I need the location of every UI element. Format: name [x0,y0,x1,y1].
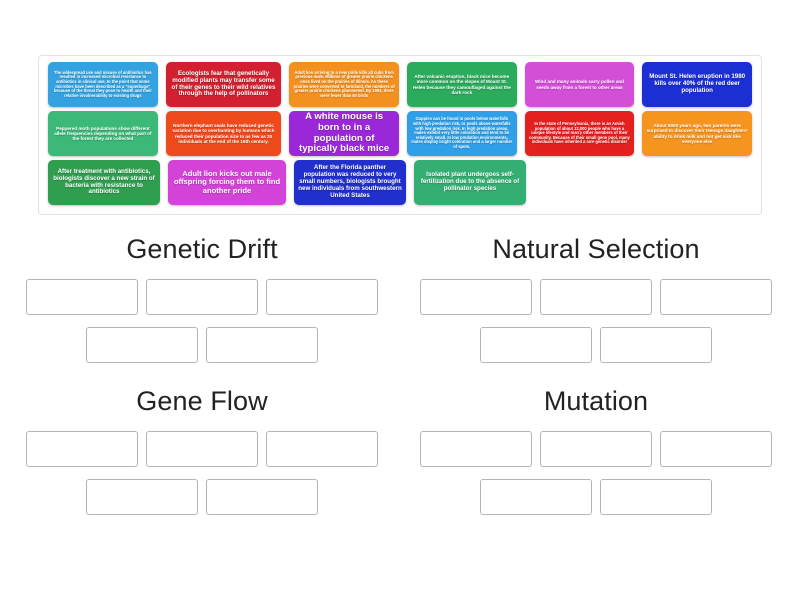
category-title: Genetic Drift [12,234,392,265]
card-peppered-moth[interactable]: Peppered moth populations show different… [48,111,158,156]
card-lion-offspring[interactable]: Adult lion kicks out male offspring forc… [168,160,286,205]
dropzone-row [12,327,392,363]
category-natural-selection: Natural Selection [406,234,786,375]
category-gene-flow: Gene Flow [12,386,392,527]
category-mutation: Mutation [406,386,786,527]
dropzone-group [406,431,786,515]
dropzone-genetic-drift[interactable] [266,279,378,315]
tray-row: The widespread use and misuse of antibio… [44,62,756,107]
dropzone-gene-flow[interactable] [146,431,258,467]
card-mount-st-helen-mice[interactable]: After volcanic eruption, black mice beco… [407,62,517,107]
unsorted-cards-tray: The widespread use and misuse of antibio… [38,55,762,215]
dropzone-genetic-drift[interactable] [86,327,198,363]
dropzone-row [12,431,392,467]
card-prairie-chicken[interactable]: Adult lion arriving to a new pride kills… [289,62,399,107]
card-white-mouse[interactable]: A white mouse is born to in a population… [289,111,399,156]
dropzone-row [406,279,786,315]
dropzone-mutation[interactable] [660,431,772,467]
dropzone-group [12,279,392,363]
group-sort-activity: The widespread use and misuse of antibio… [0,0,800,600]
card-lactose-tolerance[interactable]: About 9000 years ago, two parents were s… [642,111,752,156]
card-antibiotic-superbugs[interactable]: The widespread use and misuse of antibio… [48,62,158,107]
tray-row: After treatment with antibiotics, biolog… [44,160,756,205]
card-amish-population[interactable]: In the state of Pennsylvania, there is a… [525,111,635,156]
dropzone-gene-flow[interactable] [26,431,138,467]
dropzone-natural-selection[interactable] [420,279,532,315]
dropzone-row [406,327,786,363]
tray-row: Peppered moth populations show different… [44,111,756,156]
dropzone-mutation[interactable] [600,479,712,515]
card-guppies-predation[interactable]: Guppies can be found in pools below wate… [407,111,517,156]
dropzone-mutation[interactable] [420,431,532,467]
dropzone-genetic-drift[interactable] [146,279,258,315]
dropzone-group [406,279,786,363]
category-title: Natural Selection [406,234,786,265]
dropzone-natural-selection[interactable] [540,279,652,315]
category-title: Gene Flow [12,386,392,417]
card-bacteria-resistance[interactable]: After treatment with antibiotics, biolog… [48,160,160,205]
dropzone-group [12,431,392,515]
dropzone-natural-selection[interactable] [660,279,772,315]
card-red-deer-eruption[interactable]: Mount St. Helen eruption in 1980 kills o… [642,62,752,107]
dropzone-natural-selection[interactable] [480,327,592,363]
dropzone-row [12,279,392,315]
card-elephant-seals[interactable]: Northern elephant seals have reduced gen… [166,111,282,156]
dropzone-mutation[interactable] [540,431,652,467]
dropzone-gene-flow[interactable] [86,479,198,515]
dropzone-gene-flow[interactable] [266,431,378,467]
card-self-fertilization[interactable]: Isolated plant undergoes self-fertilizat… [414,160,526,205]
category-title: Mutation [406,386,786,417]
card-gmo-gene-transfer[interactable]: Ecologists fear that genetically modifie… [166,62,282,107]
category-genetic-drift: Genetic Drift [12,234,392,375]
dropzone-natural-selection[interactable] [600,327,712,363]
dropzone-genetic-drift[interactable] [206,327,318,363]
card-wind-pollen-dispersal[interactable]: Wind and many animals carry pollen and s… [525,62,635,107]
dropzone-genetic-drift[interactable] [26,279,138,315]
dropzone-mutation[interactable] [480,479,592,515]
dropzone-row [406,431,786,467]
dropzone-row [406,479,786,515]
card-florida-panther[interactable]: After the Florida panther population was… [294,160,406,205]
dropzone-row [12,479,392,515]
dropzone-gene-flow[interactable] [206,479,318,515]
